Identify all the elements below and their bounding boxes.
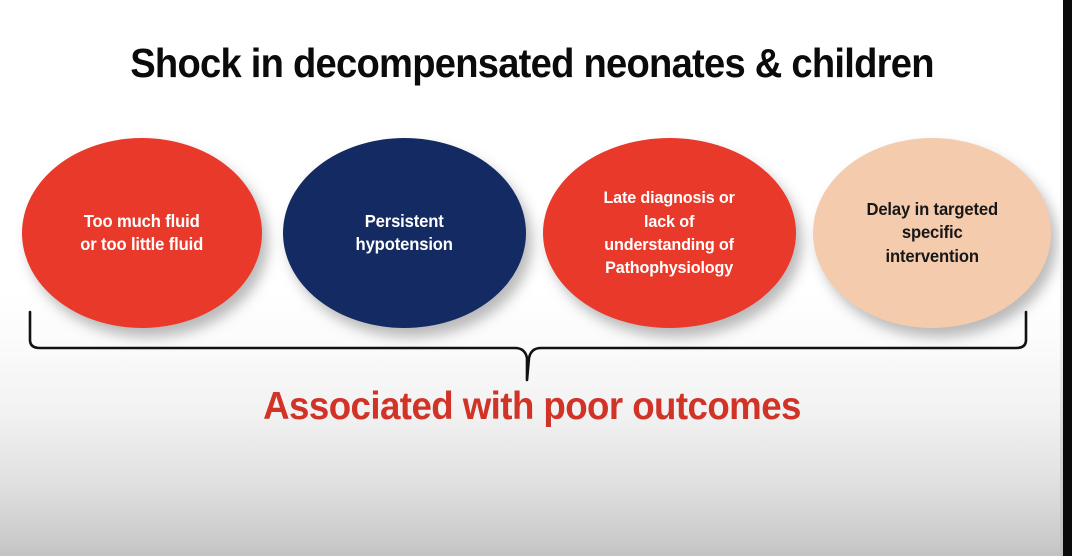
ellipse-too-much-or-too-little-fluid[interactable]: Too much fluid or too little fluid [22, 138, 262, 328]
ellipse-label-line: Late diagnosis or [604, 188, 735, 207]
slide-canvas: Shock in decompensated neonates & childr… [0, 0, 1072, 556]
ellipse-label-line: understanding of [605, 235, 735, 254]
ellipse-late-diagnosis-or-lack-of-understanding[interactable]: Late diagnosis or lack of understanding … [543, 138, 796, 328]
ellipse-label: Persistent hypotension [344, 210, 464, 257]
ellipse-persistent-hypotension[interactable]: Persistent hypotension [283, 138, 526, 328]
ellipse-label-line: lack of [644, 212, 694, 231]
ellipse-delay-in-targeted-specific-intervention[interactable]: Delay in targeted specific intervention [813, 138, 1051, 328]
summary-caption: Associated with poor outcomes [32, 385, 1032, 429]
ellipse-label-line: intervention [885, 246, 978, 266]
ellipse-label-line: Persistent [365, 211, 444, 231]
ellipse-label: Too much fluid or too little fluid [69, 210, 215, 257]
ellipse-label-line: Too much fluid [84, 211, 200, 231]
page-title: Shock in decompensated neonates & childr… [37, 40, 1027, 87]
ellipse-label: Delay in targeted specific intervention [855, 198, 1009, 268]
ellipse-label-line: hypotension [356, 234, 453, 254]
frame-edge-strip [1063, 0, 1072, 556]
ellipse-label-line: Pathophysiology [605, 258, 733, 277]
ellipse-label-line: or too little fluid [81, 234, 204, 254]
ellipse-group: Too much fluid or too little fluid Persi… [0, 138, 1064, 328]
ellipse-label-line: specific [902, 222, 963, 242]
ellipse-label: Late diagnosis or lack of understanding … [592, 186, 746, 280]
ellipse-label-line: Delay in targeted [866, 199, 998, 219]
